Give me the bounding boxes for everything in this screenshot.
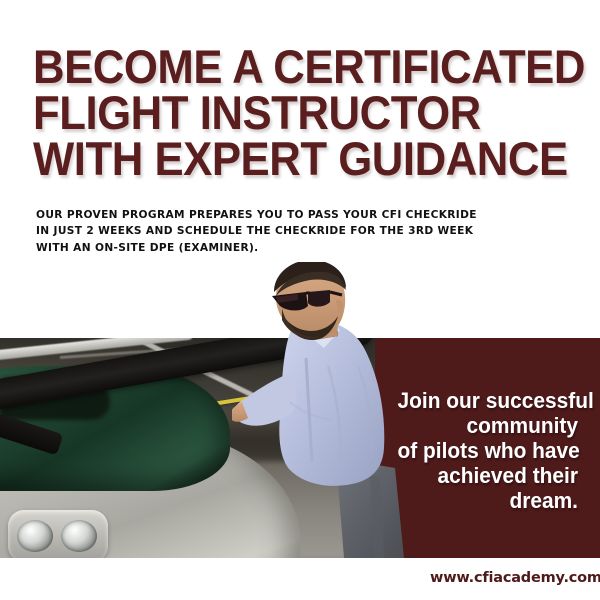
callout-line-5: dream.: [398, 488, 579, 513]
subcopy-line-3: WITH AN ON-SITE DPE (EXAMINER).: [36, 240, 466, 256]
page-title: BECOME A CERTIFICATED FLIGHT INSTRUCTOR …: [33, 44, 535, 182]
callout-line-2: community: [398, 413, 579, 438]
headline-line-3: WITH EXPERT GUIDANCE: [33, 136, 535, 182]
headline-line-1: BECOME A CERTIFICATED: [33, 44, 535, 90]
landing-light-housing: [8, 510, 108, 558]
advertisement-canvas: BECOME A CERTIFICATED FLIGHT INSTRUCTOR …: [0, 0, 600, 600]
landing-lamp-right-icon: [61, 520, 97, 552]
subheading-text: OUR PROVEN PROGRAM PREPARES YOU TO PASS …: [36, 207, 466, 256]
callout-text: Join our successful community of pilots …: [398, 388, 579, 513]
headline-line-2: FLIGHT INSTRUCTOR: [33, 90, 535, 136]
subcopy-line-1: OUR PROVEN PROGRAM PREPARES YOU TO PASS …: [36, 207, 466, 223]
pilot-photo-cutout: [232, 262, 417, 558]
callout-line-1: Join our successful: [398, 388, 579, 413]
subcopy-line-2: IN JUST 2 WEEKS AND SCHEDULE THE CHECKRI…: [36, 223, 466, 239]
callout-line-4: achieved their: [398, 463, 579, 488]
website-url[interactable]: www.cfiacademy.com: [430, 570, 600, 586]
callout-line-3: of pilots who have: [398, 438, 579, 463]
landing-lamp-left-icon: [17, 520, 53, 552]
